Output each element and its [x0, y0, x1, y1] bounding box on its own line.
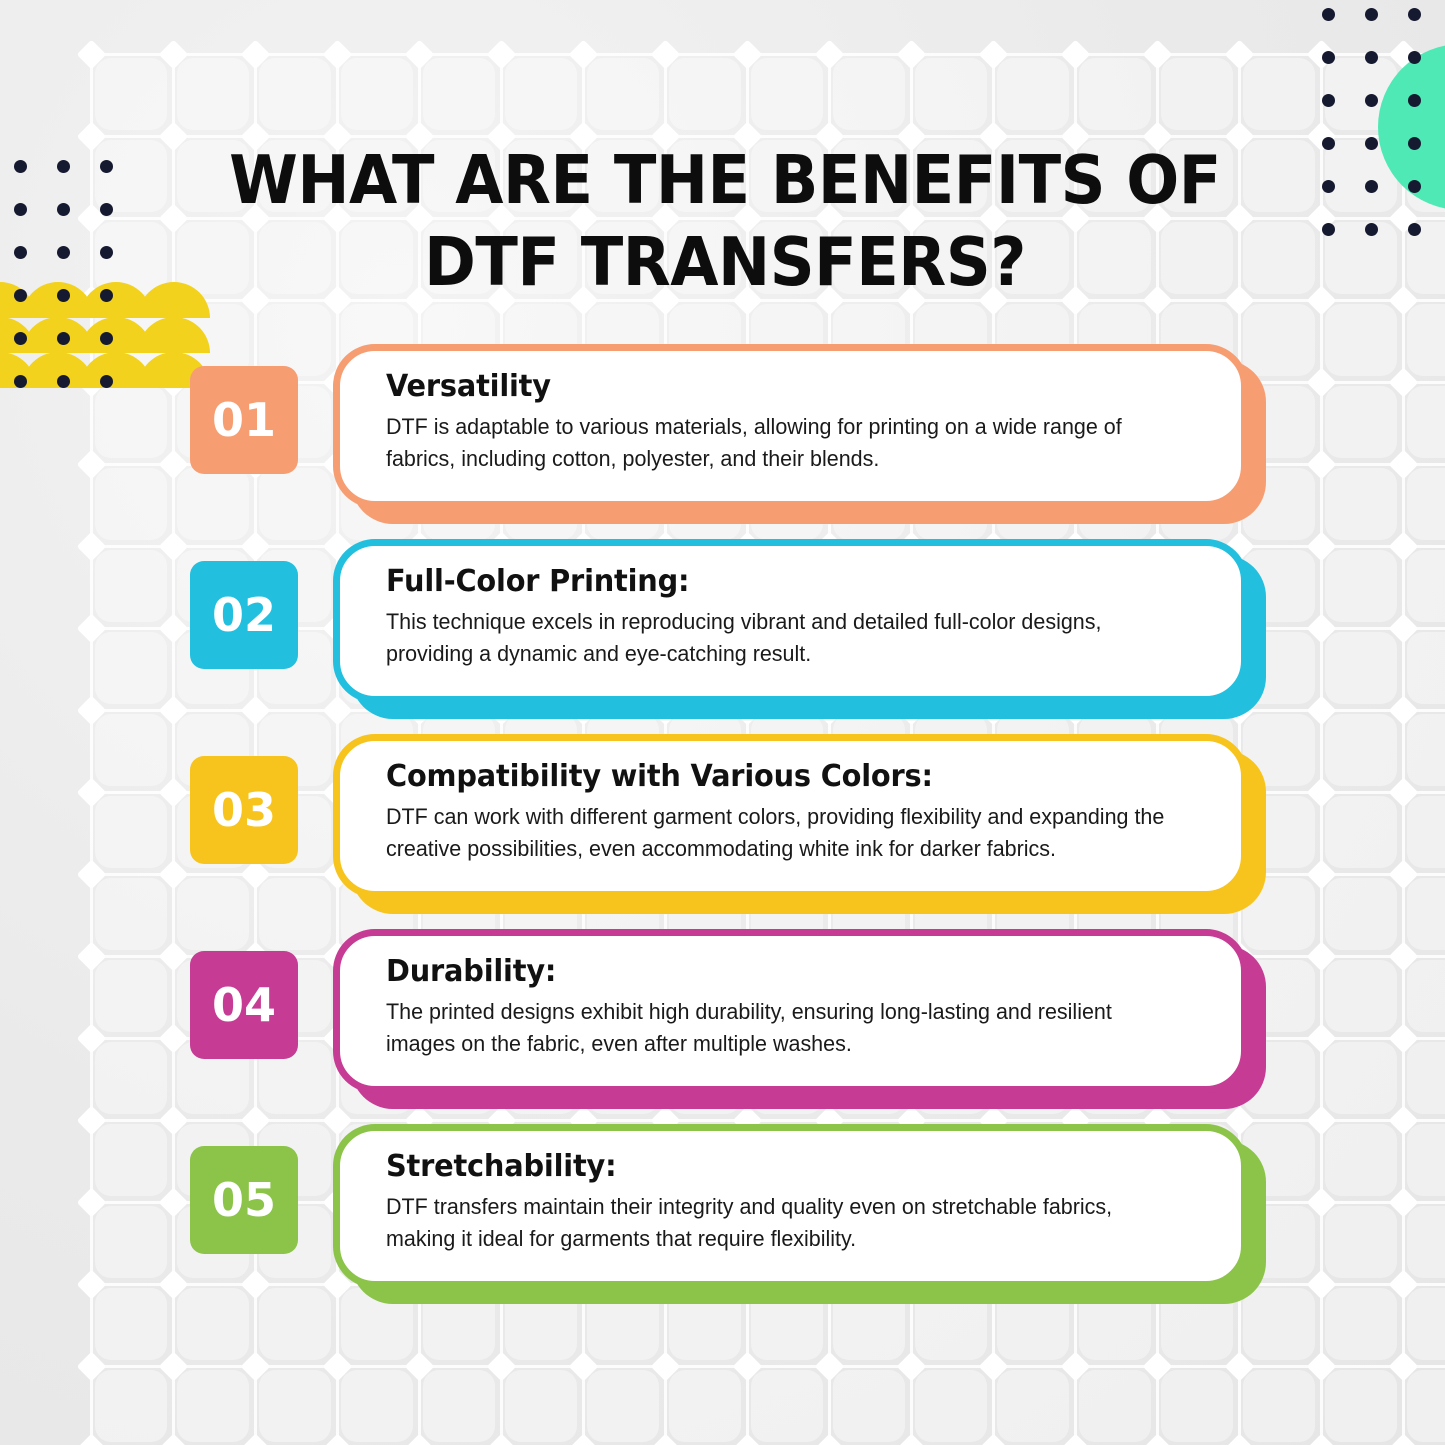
grid-dot — [1365, 8, 1378, 21]
card-surface: Full-Color Printing:This technique excel… — [333, 539, 1248, 703]
grid-dot — [1322, 137, 1335, 150]
grid-dot — [14, 203, 27, 216]
grid-dot — [1322, 51, 1335, 64]
benefit-description: DTF can work with different garment colo… — [386, 801, 1170, 864]
grid-dot — [1408, 94, 1421, 107]
grid-dot — [100, 246, 113, 259]
arch-shape — [80, 282, 152, 318]
card-surface: Compatibility with Various Colors:DTF ca… — [333, 734, 1248, 898]
grid-dot — [57, 246, 70, 259]
grid-dot — [1322, 223, 1335, 236]
grid-dot — [1408, 8, 1421, 21]
benefit-description: The printed designs exhibit high durabil… — [386, 996, 1170, 1059]
benefit-title: Versatility — [386, 369, 1174, 404]
benefit-title: Full-Color Printing: — [386, 564, 1174, 599]
grid-dot — [57, 203, 70, 216]
grid-dot — [57, 289, 70, 302]
benefit-number-badge: 05 — [190, 1146, 298, 1254]
card-surface: VersatilityDTF is adaptable to various m… — [333, 344, 1248, 508]
grid-dot — [1365, 51, 1378, 64]
benefit-description: DTF transfers maintain their integrity a… — [386, 1191, 1170, 1254]
benefits-list: 01VersatilityDTF is adaptable to various… — [0, 340, 1445, 1315]
grid-dot — [14, 289, 27, 302]
grid-dot — [1408, 51, 1421, 64]
grid-dot — [1408, 137, 1421, 150]
benefit-card: Full-Color Printing:This technique excel… — [333, 539, 1248, 703]
benefit-card: Durability:The printed designs exhibit h… — [333, 929, 1248, 1093]
grid-dot — [1408, 223, 1421, 236]
benefit-description: DTF is adaptable to various materials, a… — [386, 411, 1170, 474]
benefit-row: 01VersatilityDTF is adaptable to various… — [0, 340, 1445, 535]
grid-dot — [1322, 8, 1335, 21]
grid-dot — [1365, 223, 1378, 236]
benefit-row: 03Compatibility with Various Colors:DTF … — [0, 730, 1445, 925]
benefit-title: Durability: — [386, 954, 1174, 989]
grid-dot — [100, 160, 113, 173]
benefit-number-badge: 04 — [190, 951, 298, 1059]
benefit-title: Compatibility with Various Colors: — [386, 759, 1174, 794]
arch-shape — [0, 282, 36, 318]
arch-shape — [22, 282, 94, 318]
grid-dot — [1365, 137, 1378, 150]
grid-dot — [100, 289, 113, 302]
grid-dot — [57, 160, 70, 173]
card-surface: Durability:The printed designs exhibit h… — [333, 929, 1248, 1093]
infographic-poster: WHAT ARE THE BENEFITS OF DTF TRANSFERS? … — [0, 0, 1445, 1445]
grid-dot — [1408, 180, 1421, 193]
benefit-description: This technique excels in reproducing vib… — [386, 606, 1170, 669]
benefit-card: VersatilityDTF is adaptable to various m… — [333, 344, 1248, 508]
benefit-row: 04Durability:The printed designs exhibit… — [0, 925, 1445, 1120]
grid-dot — [100, 203, 113, 216]
benefit-number-badge: 02 — [190, 561, 298, 669]
mint-circle-decoration — [1378, 44, 1445, 210]
grid-dot — [1365, 180, 1378, 193]
grid-dot — [1322, 94, 1335, 107]
page-title: WHAT ARE THE BENEFITS OF DTF TRANSFERS? — [190, 140, 1260, 303]
benefit-title: Stretchability: — [386, 1149, 1174, 1184]
card-surface: Stretchability:DTF transfers maintain th… — [333, 1124, 1248, 1288]
benefit-number-badge: 03 — [190, 756, 298, 864]
benefit-card: Compatibility with Various Colors:DTF ca… — [333, 734, 1248, 898]
benefit-row: 02Full-Color Printing:This technique exc… — [0, 535, 1445, 730]
benefit-number-badge: 01 — [190, 366, 298, 474]
grid-dot — [14, 160, 27, 173]
benefit-row: 05Stretchability:DTF transfers maintain … — [0, 1120, 1445, 1315]
grid-dot — [1365, 94, 1378, 107]
grid-dot — [1322, 180, 1335, 193]
benefit-card: Stretchability:DTF transfers maintain th… — [333, 1124, 1248, 1288]
grid-dot — [14, 246, 27, 259]
